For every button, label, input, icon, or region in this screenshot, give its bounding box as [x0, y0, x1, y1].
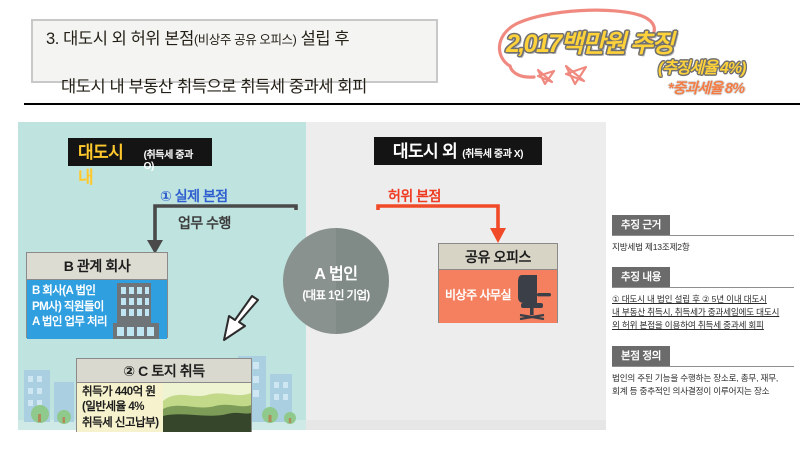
title-divider: [24, 103, 800, 105]
outside-ground-icon: [306, 360, 606, 430]
header-badge-outside: 대도시 외 (취득세 중과 X): [374, 137, 542, 165]
header-inside-main: 대도시 내: [78, 138, 139, 188]
office-building-icon: [113, 281, 165, 339]
annotation-amount: 2,017백만원 추징: [506, 24, 673, 60]
box-shared-office-header: 공유 오피스: [439, 244, 557, 270]
sidebar-section-basis: 추징 근거 지방세법 제13조제2항: [612, 215, 794, 254]
land-hills-icon: [163, 383, 251, 432]
annotation-note: *중과세율 8%: [668, 77, 744, 98]
sidebar-heading-wrap-2: 본점 정의: [612, 346, 794, 367]
header-outside-main: 대도시 외: [393, 137, 457, 162]
sidebar-body-definition: 법인의 주된 기능을 수행하는 장소로, 총무, 재무, 회계 등 중추적인 의…: [612, 372, 794, 398]
header-badge-inside: 대도시 내 (취득세 중과 O): [68, 138, 212, 166]
label-work-perform: 업무 수행: [178, 213, 231, 233]
slide-page: 3. 대도시 외 허위 본점(비상주 공유 오피스) 설립 후 대도시 내 부동…: [0, 0, 800, 450]
header-outside-sub: (취득세 중과 X): [462, 145, 523, 160]
office-chair-icon: [513, 273, 553, 321]
info-sidebar: 추징 근거 지방세법 제13조제2항 추징 내용 ① 대도시 내 법인 설립 후…: [612, 215, 794, 411]
handwritten-annotation: 2,017백만원 추징 (추징세율 4%) *중과세율 8%: [470, 8, 800, 112]
title-line1-head: 3. 대도시 외 허위 본점: [46, 30, 194, 48]
slide-title-box: 3. 대도시 외 허위 본점(비상주 공유 오피스) 설립 후 대도시 내 부동…: [31, 19, 438, 83]
sidebar-heading-definition: 본점 정의: [612, 346, 670, 366]
header-inside-sub: (취득세 중과 O): [144, 146, 202, 172]
box-land-acquisition-text: 취득가 440억 원 (일반세율 4% 취득세 신고납부): [82, 385, 159, 431]
annotation-rate: (추징세율 4%): [658, 54, 745, 78]
label-false-hq: 허위 본점: [388, 186, 441, 206]
title-line2: 대도시 내 부동산 취득으로 취득세 중과세 회피: [46, 78, 367, 96]
sidebar-heading-wrap-0: 추징 근거: [612, 215, 794, 236]
sidebar-section-content: 추징 내용 ① 대도시 내 법인 설립 후 ② 5년 이내 대도시 내 부동산 …: [612, 267, 794, 332]
sidebar-body-content: ① 대도시 내 법인 설립 후 ② 5년 이내 대도시 내 부동산 취득시, 취…: [612, 293, 794, 332]
sidebar-heading-content: 추징 내용: [612, 267, 670, 287]
box-land-acquisition: ② C 토지 취득 취득가 440억 원 (일반세율 4% 취득세 신고납부): [76, 358, 252, 432]
box-related-company: B 관계 회사 B 회사(A 법인 PM사) 직원들이 A 법인 업무 처리: [26, 252, 168, 338]
sidebar-heading-wrap-1: 추징 내용: [612, 267, 794, 288]
box-related-company-text: B 회사(A 법인 PM사) 직원들이 A 법인 업무 처리: [32, 284, 107, 331]
title-line1-tail: 설립 후: [296, 30, 349, 48]
center-entity-sub: (대표 1인 기업): [302, 287, 369, 303]
box-land-acquisition-body: 취득가 440억 원 (일반세율 4% 취득세 신고납부): [77, 383, 251, 432]
title-paren: (비상주 공유 오피스): [194, 33, 296, 47]
box-related-company-header: B 관계 회사: [27, 253, 167, 280]
box-shared-office-body: 비상주 사무실: [439, 270, 557, 323]
sidebar-section-definition: 본점 정의 법인의 주된 기능을 수행하는 장소로, 총무, 재무, 회계 등 …: [612, 346, 794, 398]
label-actual-hq: ① 실제 본점: [160, 186, 228, 206]
box-related-company-body: B 회사(A 법인 PM사) 직원들이 A 법인 업무 처리: [27, 280, 167, 339]
sidebar-body-basis: 지방세법 제13조제2항: [612, 241, 794, 254]
sidebar-heading-basis: 추징 근거: [612, 215, 670, 235]
box-shared-office-text: 비상주 사무실: [445, 286, 511, 303]
page-title: 3. 대도시 외 허위 본점(비상주 공유 오피스) 설립 후 대도시 내 부동…: [33, 2, 367, 100]
box-shared-office: 공유 오피스 비상주 사무실: [438, 243, 558, 323]
center-entity-a-corporation: A 법인 (대표 1인 기업): [283, 228, 389, 334]
center-entity-name: A 법인: [314, 260, 357, 284]
box-land-acquisition-header: ② C 토지 취득: [77, 359, 251, 383]
